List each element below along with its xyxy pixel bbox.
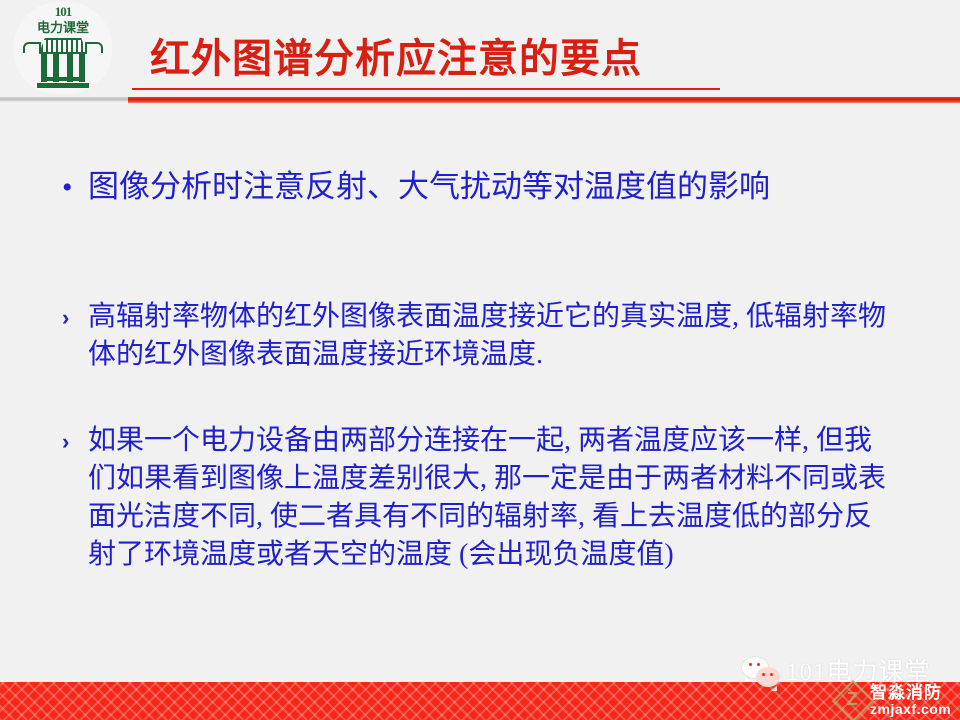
gate-building-icon <box>23 38 103 90</box>
watermark-url: zmjaxf.com <box>870 701 951 717</box>
slide-content: • 图像分析时注意反射、大气扰动等对温度值的影响 › 高辐射率物体的红外图像表面… <box>0 104 960 682</box>
brand-logo: 101 电力课堂 <box>14 2 112 94</box>
slide-header: 101 电力课堂 红外图谱分析应注意的要点 <box>0 0 960 104</box>
bullet-text-3: 如果一个电力设备由两部分连接在一起, 两者温度应该一样, 但我们如果看到图像上温… <box>88 422 896 574</box>
wechat-eye <box>762 673 765 676</box>
wechat-eye <box>757 663 760 666</box>
logo-base <box>37 83 89 88</box>
logo-wing-right <box>85 42 103 53</box>
watermark-brand: 智淼消防 <box>870 683 942 702</box>
wechat-eye <box>770 673 773 676</box>
logo-roof <box>39 38 87 54</box>
logo-plinth <box>45 77 81 81</box>
logo-wing-left <box>23 42 41 53</box>
header-rule-red <box>128 97 960 103</box>
header-rule-gray <box>0 97 128 102</box>
chevron-right-icon: › <box>62 298 88 338</box>
watermark-logo-icon <box>832 680 874 720</box>
bullet-dot-icon: • <box>62 166 88 210</box>
logo-badge: 101 电力课堂 <box>14 2 112 94</box>
bullet-text-2: 高辐射率物体的红外图像表面温度接近它的真实温度, 低辐射率物体的红外图像表面温度… <box>88 298 896 374</box>
logo-number: 101 <box>14 5 112 19</box>
logo-name: 电力课堂 <box>14 20 112 35</box>
bullet-item-3: › 如果一个电力设备由两部分连接在一起, 两者温度应该一样, 但我们如果看到图像… <box>62 422 922 574</box>
title-underline <box>132 88 720 90</box>
wechat-icon <box>742 657 786 689</box>
chevron-right-icon: › <box>62 422 88 462</box>
wechat-eye <box>749 663 752 666</box>
bullet-item-1: • 图像分析时注意反射、大气扰动等对温度值的影响 <box>62 166 922 210</box>
watermark: 智淼消防 zmjaxf.com <box>836 682 960 720</box>
page-title: 红外图谱分析应注意的要点 <box>150 34 642 84</box>
slide: 101 电力课堂 红外图谱分析应注意的要点 <box>0 0 960 720</box>
bullet-item-2: › 高辐射率物体的红外图像表面温度接近它的真实温度, 低辐射率物体的红外图像表面… <box>62 298 922 374</box>
wechat-bubble-front <box>756 667 780 687</box>
bullet-text-1: 图像分析时注意反射、大气扰动等对温度值的影响 <box>88 166 770 208</box>
